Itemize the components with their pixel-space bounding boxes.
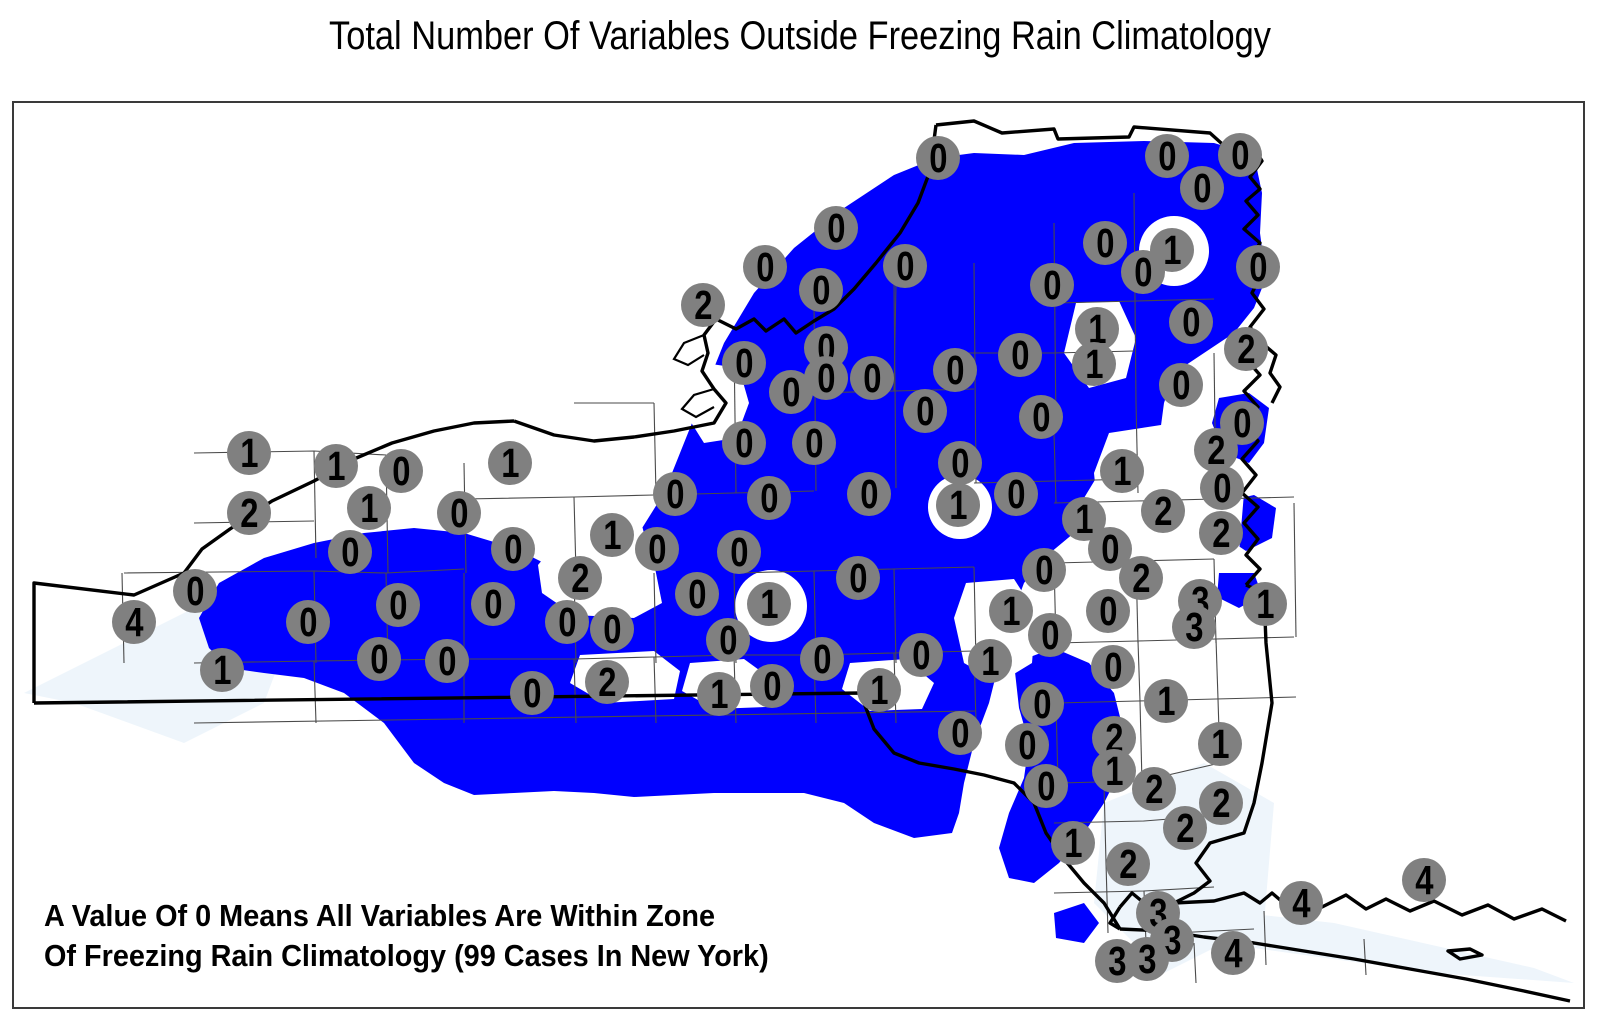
station-value-marker: 0 (1159, 363, 1203, 407)
station-value-label: 0 (951, 713, 969, 754)
station-value-marker: 0 (286, 600, 330, 644)
station-value-label: 4 (1292, 883, 1310, 924)
station-value-label: 0 (1104, 647, 1122, 688)
station-value-label: 0 (1193, 168, 1211, 209)
station-value-label: 0 (341, 532, 359, 573)
station-value-marker: 4 (1211, 931, 1255, 975)
station-value-label: 1 (603, 515, 621, 556)
station-value-marker: 0 (1121, 250, 1165, 294)
station-value-label: 2 (240, 493, 258, 534)
station-value-marker: 0 (471, 582, 515, 626)
station-value-label: 1 (760, 584, 778, 625)
station-value-marker: 0 (376, 583, 420, 627)
station-value-label: 1 (710, 674, 728, 715)
station-value-marker: 0 (1020, 682, 1064, 726)
station-value-label: 0 (1172, 365, 1190, 406)
station-value-marker: 0 (379, 449, 423, 493)
station-value-label: 1 (1157, 681, 1175, 722)
station-value-label: 1 (870, 670, 888, 711)
station-value-label: 0 (1011, 335, 1029, 376)
station-value-marker: 1 (857, 668, 901, 712)
station-value-marker: 0 (903, 389, 947, 433)
station-value-marker: 0 (933, 348, 977, 392)
station-value-marker: 1 (314, 444, 358, 488)
station-value-marker: 2 (227, 491, 271, 535)
station-value-label: 1 (1075, 499, 1093, 540)
station-value-label: 2 (694, 285, 712, 326)
station-value-marker: 0 (750, 664, 794, 708)
station-value-label: 0 (896, 246, 914, 287)
station-value-label: 0 (756, 247, 774, 288)
station-value-marker: 0 (916, 136, 960, 180)
station-value-label: 0 (1032, 397, 1050, 438)
station-value-marker: 1 (1051, 821, 1095, 865)
station-value-label: 2 (598, 662, 616, 703)
station-value-label: 0 (1158, 136, 1176, 177)
station-value-marker: 0 (357, 637, 401, 681)
station-value-label: 0 (1231, 135, 1249, 176)
station-value-label: 0 (1213, 468, 1231, 509)
station-value-label: 2 (571, 558, 589, 599)
station-value-label: 0 (1249, 247, 1267, 288)
station-value-label: 0 (916, 391, 934, 432)
station-value-label: 0 (484, 584, 502, 625)
station-value-label: 0 (558, 602, 576, 643)
station-value-label: 0 (1182, 302, 1200, 343)
station-value-label: 1 (1002, 591, 1020, 632)
station-value-marker: 1 (989, 589, 1033, 633)
station-value-marker: 0 (938, 441, 982, 485)
station-value-marker: 2 (681, 283, 725, 327)
station-value-marker: 0 (1030, 263, 1074, 307)
station-value-label: 0 (504, 529, 522, 570)
station-value-marker: 1 (747, 582, 791, 626)
station-value-marker: 4 (112, 600, 156, 644)
station-value-marker: 0 (1022, 548, 1066, 592)
station-value-marker: 0 (173, 569, 217, 613)
station-value-label: 0 (827, 208, 845, 249)
station-value-marker: 1 (936, 483, 980, 527)
station-value-marker: 0 (510, 671, 554, 715)
station-value-marker: 0 (747, 476, 791, 520)
station-value-marker: 1 (1243, 582, 1287, 626)
station-value-label: 0 (863, 358, 881, 399)
station-value-label: 2 (1154, 491, 1172, 532)
station-value-marker: 0 (328, 530, 372, 574)
station-value-label: 0 (1134, 252, 1152, 293)
station-value-label: 0 (666, 474, 684, 515)
station-value-label: 1 (1105, 751, 1123, 792)
station-value-marker: 0 (998, 333, 1042, 377)
station-value-label: 0 (1007, 474, 1025, 515)
station-value-marker: 0 (743, 245, 787, 289)
station-value-label: 3 (1108, 941, 1126, 982)
station-value-label: 0 (648, 529, 666, 570)
station-value-marker: 2 (1141, 489, 1185, 533)
station-value-marker: 0 (425, 639, 469, 683)
station-value-marker: 2 (1199, 511, 1243, 555)
station-value-marker: 4 (1402, 858, 1446, 902)
station-value-label: 2 (1145, 769, 1163, 810)
station-value-marker: 2 (1106, 842, 1150, 886)
station-value-label: 0 (1043, 265, 1061, 306)
station-value-marker: 0 (1218, 133, 1262, 177)
station-value-marker: 0 (1145, 134, 1189, 178)
station-value-marker: 0 (847, 472, 891, 516)
station-value-label: 0 (805, 423, 823, 464)
station-value-label: 0 (719, 620, 737, 661)
station-value-label: 0 (1035, 550, 1053, 591)
station-value-label: 0 (392, 451, 410, 492)
station-value-label: 3 (1138, 939, 1156, 980)
station-value-marker: 2 (585, 660, 629, 704)
station-value-marker: 0 (635, 527, 679, 571)
station-value-marker: 2 (1119, 556, 1163, 600)
station-value-label: 2 (1212, 513, 1230, 554)
station-value-marker: 0 (899, 633, 943, 677)
station-value-label: 1 (949, 485, 967, 526)
station-value-marker: 1 (697, 672, 741, 716)
map-panel: A Value Of 0 Means All Variables Are Wit… (12, 101, 1585, 1009)
new-york-state-map (14, 103, 1583, 1007)
page-title: Total Number Of Variables Outside Freezi… (112, 14, 1488, 59)
station-value-marker: 2 (1224, 327, 1268, 371)
station-value-marker: 3 (1125, 937, 1169, 981)
station-value-marker: 0 (545, 600, 589, 644)
station-value-label: 1 (1256, 584, 1274, 625)
station-value-marker: 0 (675, 572, 719, 616)
station-value-label: 0 (1018, 725, 1036, 766)
station-value-label: 1 (1085, 344, 1103, 385)
station-value-label: 0 (860, 474, 878, 515)
station-value-label: 1 (327, 446, 345, 487)
station-value-marker: 0 (722, 341, 766, 385)
station-value-label: 1 (213, 650, 231, 691)
station-value-label: 0 (1041, 615, 1059, 656)
station-value-marker: 1 (1100, 449, 1144, 493)
station-value-label: 4 (1415, 860, 1433, 901)
station-value-marker: 1 (1092, 749, 1136, 793)
station-value-marker: 1 (590, 513, 634, 557)
station-value-label: 1 (1163, 230, 1181, 271)
station-value-marker: 0 (1200, 466, 1244, 510)
station-value-label: 0 (912, 635, 930, 676)
station-value-marker: 2 (1132, 767, 1176, 811)
station-value-label: 1 (240, 433, 258, 474)
station-value-label: 0 (1233, 403, 1251, 444)
station-value-label: 2 (1212, 783, 1230, 824)
station-value-label: 0 (1099, 591, 1117, 632)
station-value-marker: 1 (227, 431, 271, 475)
station-value-label: 0 (951, 443, 969, 484)
station-value-marker: 1 (347, 486, 391, 530)
station-value-marker: 0 (1024, 764, 1068, 808)
station-value-marker: 0 (883, 244, 927, 288)
station-value-marker: 0 (814, 206, 858, 250)
station-value-label: 0 (730, 532, 748, 573)
station-value-label: 0 (760, 478, 778, 519)
station-value-label: 0 (763, 666, 781, 707)
station-value-label: 2 (1176, 808, 1194, 849)
station-value-label: 0 (370, 639, 388, 680)
station-value-label: 0 (450, 493, 468, 534)
station-value-label: 2 (1132, 558, 1150, 599)
station-value-label: 1 (1113, 451, 1131, 492)
station-value-marker: 1 (1198, 722, 1242, 766)
station-value-label: 1 (501, 443, 519, 484)
station-value-label: 0 (813, 639, 831, 680)
station-value-marker: 0 (1028, 613, 1072, 657)
station-value-marker: 0 (1091, 645, 1135, 689)
station-value-marker: 0 (800, 637, 844, 681)
station-value-label: 0 (603, 609, 621, 650)
station-value-marker: 0 (437, 491, 481, 535)
station-value-label: 1 (981, 641, 999, 682)
station-value-label: 0 (817, 358, 835, 399)
station-value-label: 1 (1211, 724, 1229, 765)
station-value-label: 0 (929, 138, 947, 179)
station-value-marker: 1 (488, 441, 532, 485)
station-value-label: 0 (523, 673, 541, 714)
station-value-label: 0 (1096, 223, 1114, 264)
station-value-label: 0 (1101, 529, 1119, 570)
station-value-label: 0 (186, 571, 204, 612)
station-value-marker: 0 (706, 618, 750, 662)
station-value-marker: 1 (1072, 342, 1116, 386)
station-value-marker: 0 (792, 421, 836, 465)
station-value-marker: 0 (1086, 589, 1130, 633)
station-value-marker: 0 (1180, 166, 1224, 210)
station-value-marker: 0 (850, 356, 894, 400)
caption-text: A Value Of 0 Means All Variables Are Wit… (44, 896, 974, 977)
station-value-label: 0 (946, 350, 964, 391)
station-value-marker: 3 (1172, 605, 1216, 649)
station-value-marker: 0 (994, 472, 1038, 516)
station-value-marker: 0 (1083, 221, 1127, 265)
station-value-marker: 0 (938, 711, 982, 755)
station-value-marker: 0 (1019, 395, 1063, 439)
station-value-marker: 1 (200, 648, 244, 692)
station-value-label: 1 (360, 488, 378, 529)
station-value-label: 0 (438, 641, 456, 682)
station-value-marker: 0 (491, 527, 535, 571)
station-value-marker: 2 (1199, 781, 1243, 825)
station-value-marker: 2 (1163, 806, 1207, 850)
station-value-label: 0 (735, 423, 753, 464)
station-value-label: 0 (782, 372, 800, 413)
station-value-label: 0 (389, 585, 407, 626)
station-value-marker: 0 (1169, 300, 1213, 344)
station-value-label: 0 (735, 343, 753, 384)
station-value-marker: 0 (590, 607, 634, 651)
station-value-marker: 0 (804, 356, 848, 400)
station-value-label: 0 (812, 270, 830, 311)
station-value-marker: 1 (1144, 679, 1188, 723)
station-value-marker: 1 (968, 639, 1012, 683)
station-value-marker: 0 (1005, 723, 1049, 767)
station-value-marker: 0 (717, 530, 761, 574)
station-value-marker: 2 (558, 556, 602, 600)
station-value-label: 0 (688, 574, 706, 615)
station-value-label: 2 (1237, 329, 1255, 370)
station-value-marker: 4 (1279, 881, 1323, 925)
station-value-label: 0 (849, 558, 867, 599)
station-value-marker: 0 (1236, 245, 1280, 289)
station-value-label: 4 (125, 602, 143, 643)
station-value-marker: 0 (799, 268, 843, 312)
station-value-label: 3 (1185, 607, 1203, 648)
station-value-marker: 0 (836, 556, 880, 600)
station-value-label: 4 (1224, 933, 1242, 974)
station-value-label: 1 (1064, 823, 1082, 864)
station-value-label: 0 (299, 602, 317, 643)
station-value-label: 0 (1033, 684, 1051, 725)
station-value-marker: 0 (653, 472, 697, 516)
station-value-label: 0 (1037, 766, 1055, 807)
station-value-marker: 0 (722, 421, 766, 465)
station-value-label: 2 (1119, 844, 1137, 885)
